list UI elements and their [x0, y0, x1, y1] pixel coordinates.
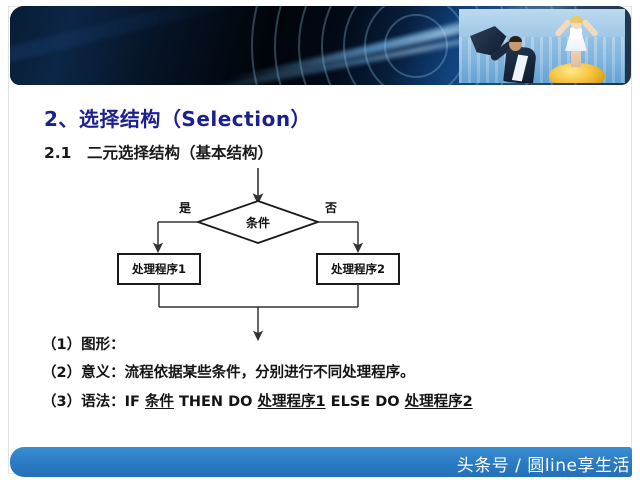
yes-label: 是: [178, 201, 192, 215]
no-label: 否: [324, 201, 337, 215]
footer-attribution: 头条号 / 圆line享生活: [457, 451, 630, 476]
process-2-label: 处理程序2: [330, 262, 385, 276]
syntax-condition: 条件: [145, 394, 174, 410]
process-1-label: 处理程序1: [131, 262, 186, 276]
syntax-process-1: 处理程序1: [258, 394, 326, 410]
body-line-shape: （1）图形：: [42, 333, 125, 354]
banner-photo: [459, 9, 625, 83]
syntax-then: THEN DO: [174, 394, 258, 410]
page-title: 2、选择结构（Selection）: [44, 103, 311, 132]
flowchart: 条件 是 否 处理程序1 处理程序2: [0, 168, 640, 343]
flowchart-svg: 条件 是 否 处理程序1 处理程序2: [0, 168, 640, 343]
slide-canvas: 2、选择结构（Selection） 2.1 二元选择结构（基本结构） 条件 是 …: [0, 0, 640, 480]
body-line-syntax: （3）语法：IF 条件 THEN DO 处理程序1 ELSE DO 处理程序2: [42, 390, 473, 411]
decision-label: 条件: [245, 215, 270, 230]
syntax-else: ELSE DO: [326, 394, 405, 410]
body-line-meaning: （2）意义：流程依据某些条件，分别进行不同处理程序。: [42, 361, 415, 382]
man-figure: [487, 27, 549, 83]
header-banner: [10, 6, 631, 85]
syntax-prefix: （3）语法：IF: [42, 394, 145, 410]
page-subtitle: 2.1 二元选择结构（基本结构）: [44, 141, 273, 163]
syntax-process-2: 处理程序2: [405, 394, 473, 410]
woman-figure: [549, 13, 605, 83]
